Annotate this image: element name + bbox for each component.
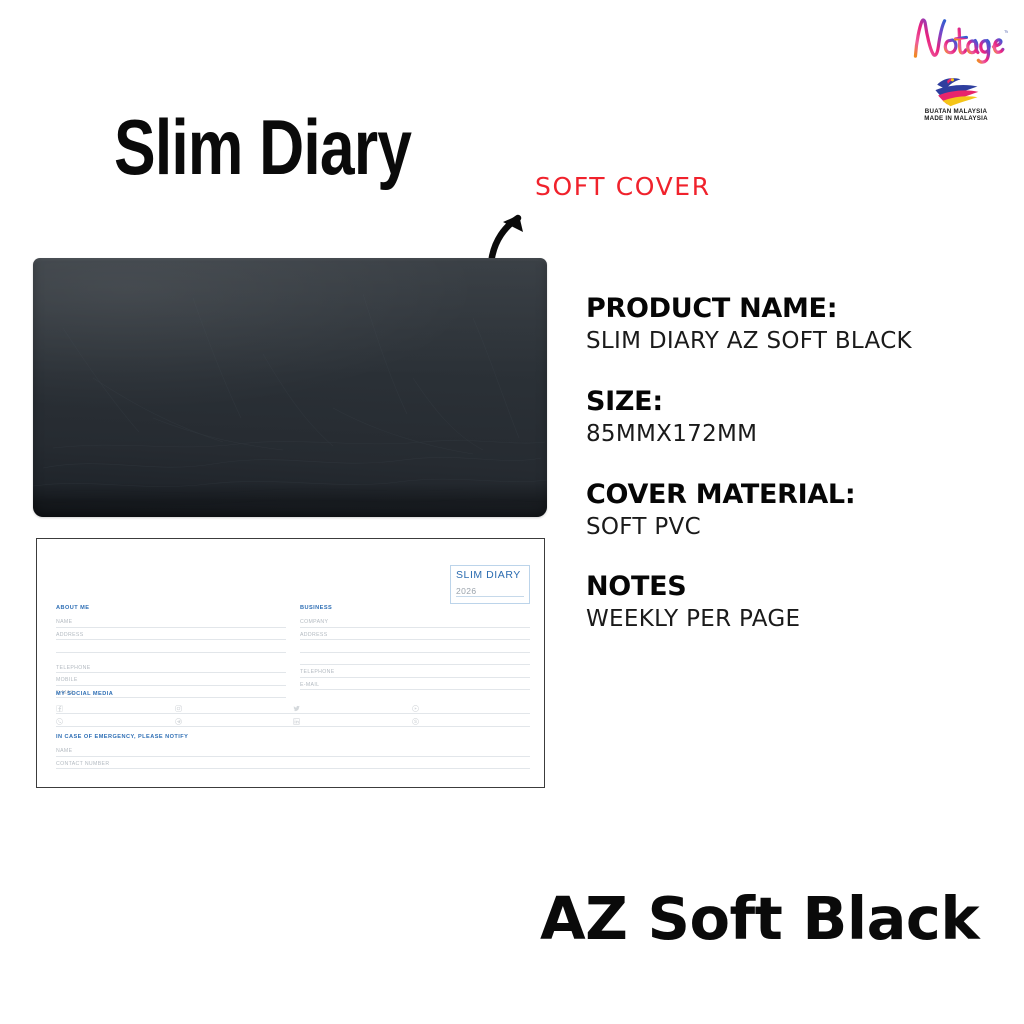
telegram-icon [175, 718, 182, 725]
spec-notes: NOTES WEEKLY PER PAGE [586, 571, 1006, 634]
field-row: ADDRESS [56, 628, 286, 641]
social-cell [175, 705, 294, 712]
field-label: ADDRESS [56, 632, 84, 638]
product-info-sheet: ™ BUATAN MALAYSIA MADE IN MALAYSIA Slim … [0, 0, 1024, 1024]
field-label: CONTACT NUMBER [56, 761, 109, 767]
social-cell [56, 718, 175, 725]
spec-label: SIZE: [586, 386, 1006, 417]
specs-list: PRODUCT NAME: SLIM DIARY AZ SOFT BLACK S… [586, 293, 1006, 664]
field-row: E-MAIL [300, 678, 530, 691]
form-section-emergency: IN CASE OF EMERGENCY, PLEASE NOTIFY NAME… [56, 734, 530, 769]
linkedin-icon [293, 718, 300, 725]
malaysia-flagmark-icon [929, 74, 983, 108]
form-section-social-media: MY SOCIAL MEDIA [56, 691, 530, 727]
social-cell [412, 705, 531, 712]
social-cell [293, 718, 412, 725]
skype-icon [412, 718, 419, 725]
field-label: NAME [56, 619, 72, 625]
spec-value: SOFT PVC [586, 513, 1006, 542]
inner-brand-title: SLIM DIARY [456, 569, 524, 581]
field-label: TELEPHONE [56, 665, 91, 671]
made-in-line-2: MADE IN MALAYSIA [896, 116, 1016, 123]
inner-page-photo: SLIM DIARY 2026 ABOUT ME NAME ADDRESS TE… [36, 538, 545, 788]
soft-cover-callout-label: SOFT COVER [535, 172, 711, 201]
field-label: NAME [56, 748, 72, 754]
spec-label: PRODUCT NAME: [586, 293, 1006, 324]
spec-size: SIZE: 85MMX172MM [586, 386, 1006, 449]
field-row: ADDRESS [300, 628, 530, 641]
leather-texture [33, 258, 547, 517]
field-label: E-MAIL [300, 682, 319, 688]
field-row: MOBILE [56, 673, 286, 686]
spec-product-name: PRODUCT NAME: SLIM DIARY AZ SOFT BLACK [586, 293, 1006, 356]
notage-logo: ™ [904, 8, 1008, 70]
social-cell [293, 705, 412, 712]
product-cover-photo [33, 258, 547, 517]
form-section-about-me: ABOUT ME NAME ADDRESS TELEPHONE MOBILE E… [56, 605, 286, 698]
field-row [300, 653, 530, 666]
field-row: COMPANY [300, 615, 530, 628]
field-row: TELEPHONE [56, 661, 286, 674]
field-row [300, 640, 530, 653]
section-heading-emergency: IN CASE OF EMERGENCY, PLEASE NOTIFY [56, 734, 530, 740]
spec-label: NOTES [586, 571, 1006, 602]
field-label: ADDRESS [300, 632, 328, 638]
brand-block: ™ BUATAN MALAYSIA MADE IN MALAYSIA [896, 8, 1016, 123]
field-row: CONTACT NUMBER [56, 757, 530, 770]
field-row [56, 640, 286, 653]
trademark-mark: ™ [1004, 30, 1008, 36]
spec-value: 85MMX172MM [586, 420, 1006, 449]
spec-cover-material: COVER MATERIAL: SOFT PVC [586, 479, 1006, 542]
field-row: TELEPHONE [300, 665, 530, 678]
field-label: TELEPHONE [300, 669, 335, 675]
cover-bottom-edge [33, 483, 547, 517]
twitter-icon [293, 705, 300, 712]
field-label: MOBILE [56, 677, 78, 683]
variant-caption: AZ Soft Black [540, 884, 979, 953]
facebook-icon [56, 705, 63, 712]
field-row: NAME [56, 744, 530, 757]
field-label: COMPANY [300, 619, 328, 625]
social-cell [412, 718, 531, 725]
made-in-malaysia-badge: BUATAN MALAYSIA MADE IN MALAYSIA [896, 74, 1016, 123]
social-cell [56, 705, 175, 712]
inner-brand-year: 2026 [456, 586, 524, 597]
field-row: NAME [56, 615, 286, 628]
whatsapp-icon [56, 718, 63, 725]
section-heading-about-me: ABOUT ME [56, 605, 286, 611]
spec-value: WEEKLY PER PAGE [586, 605, 1006, 634]
page-title: Slim Diary [114, 108, 411, 186]
inner-form-columns: ABOUT ME NAME ADDRESS TELEPHONE MOBILE E… [56, 605, 530, 698]
instagram-icon [175, 705, 182, 712]
spec-label: COVER MATERIAL: [586, 479, 1006, 510]
spec-value: SLIM DIARY AZ SOFT BLACK [586, 327, 1006, 356]
inner-brand-box: SLIM DIARY 2026 [450, 565, 530, 604]
social-row [56, 701, 530, 714]
social-cell [175, 718, 294, 725]
youtube-icon [412, 705, 419, 712]
section-heading-business: BUSINESS [300, 605, 530, 611]
form-section-business: BUSINESS COMPANY ADDRESS TELEPHONE E-MAI… [300, 605, 530, 698]
section-heading-social-media: MY SOCIAL MEDIA [56, 691, 530, 697]
social-row [56, 714, 530, 727]
